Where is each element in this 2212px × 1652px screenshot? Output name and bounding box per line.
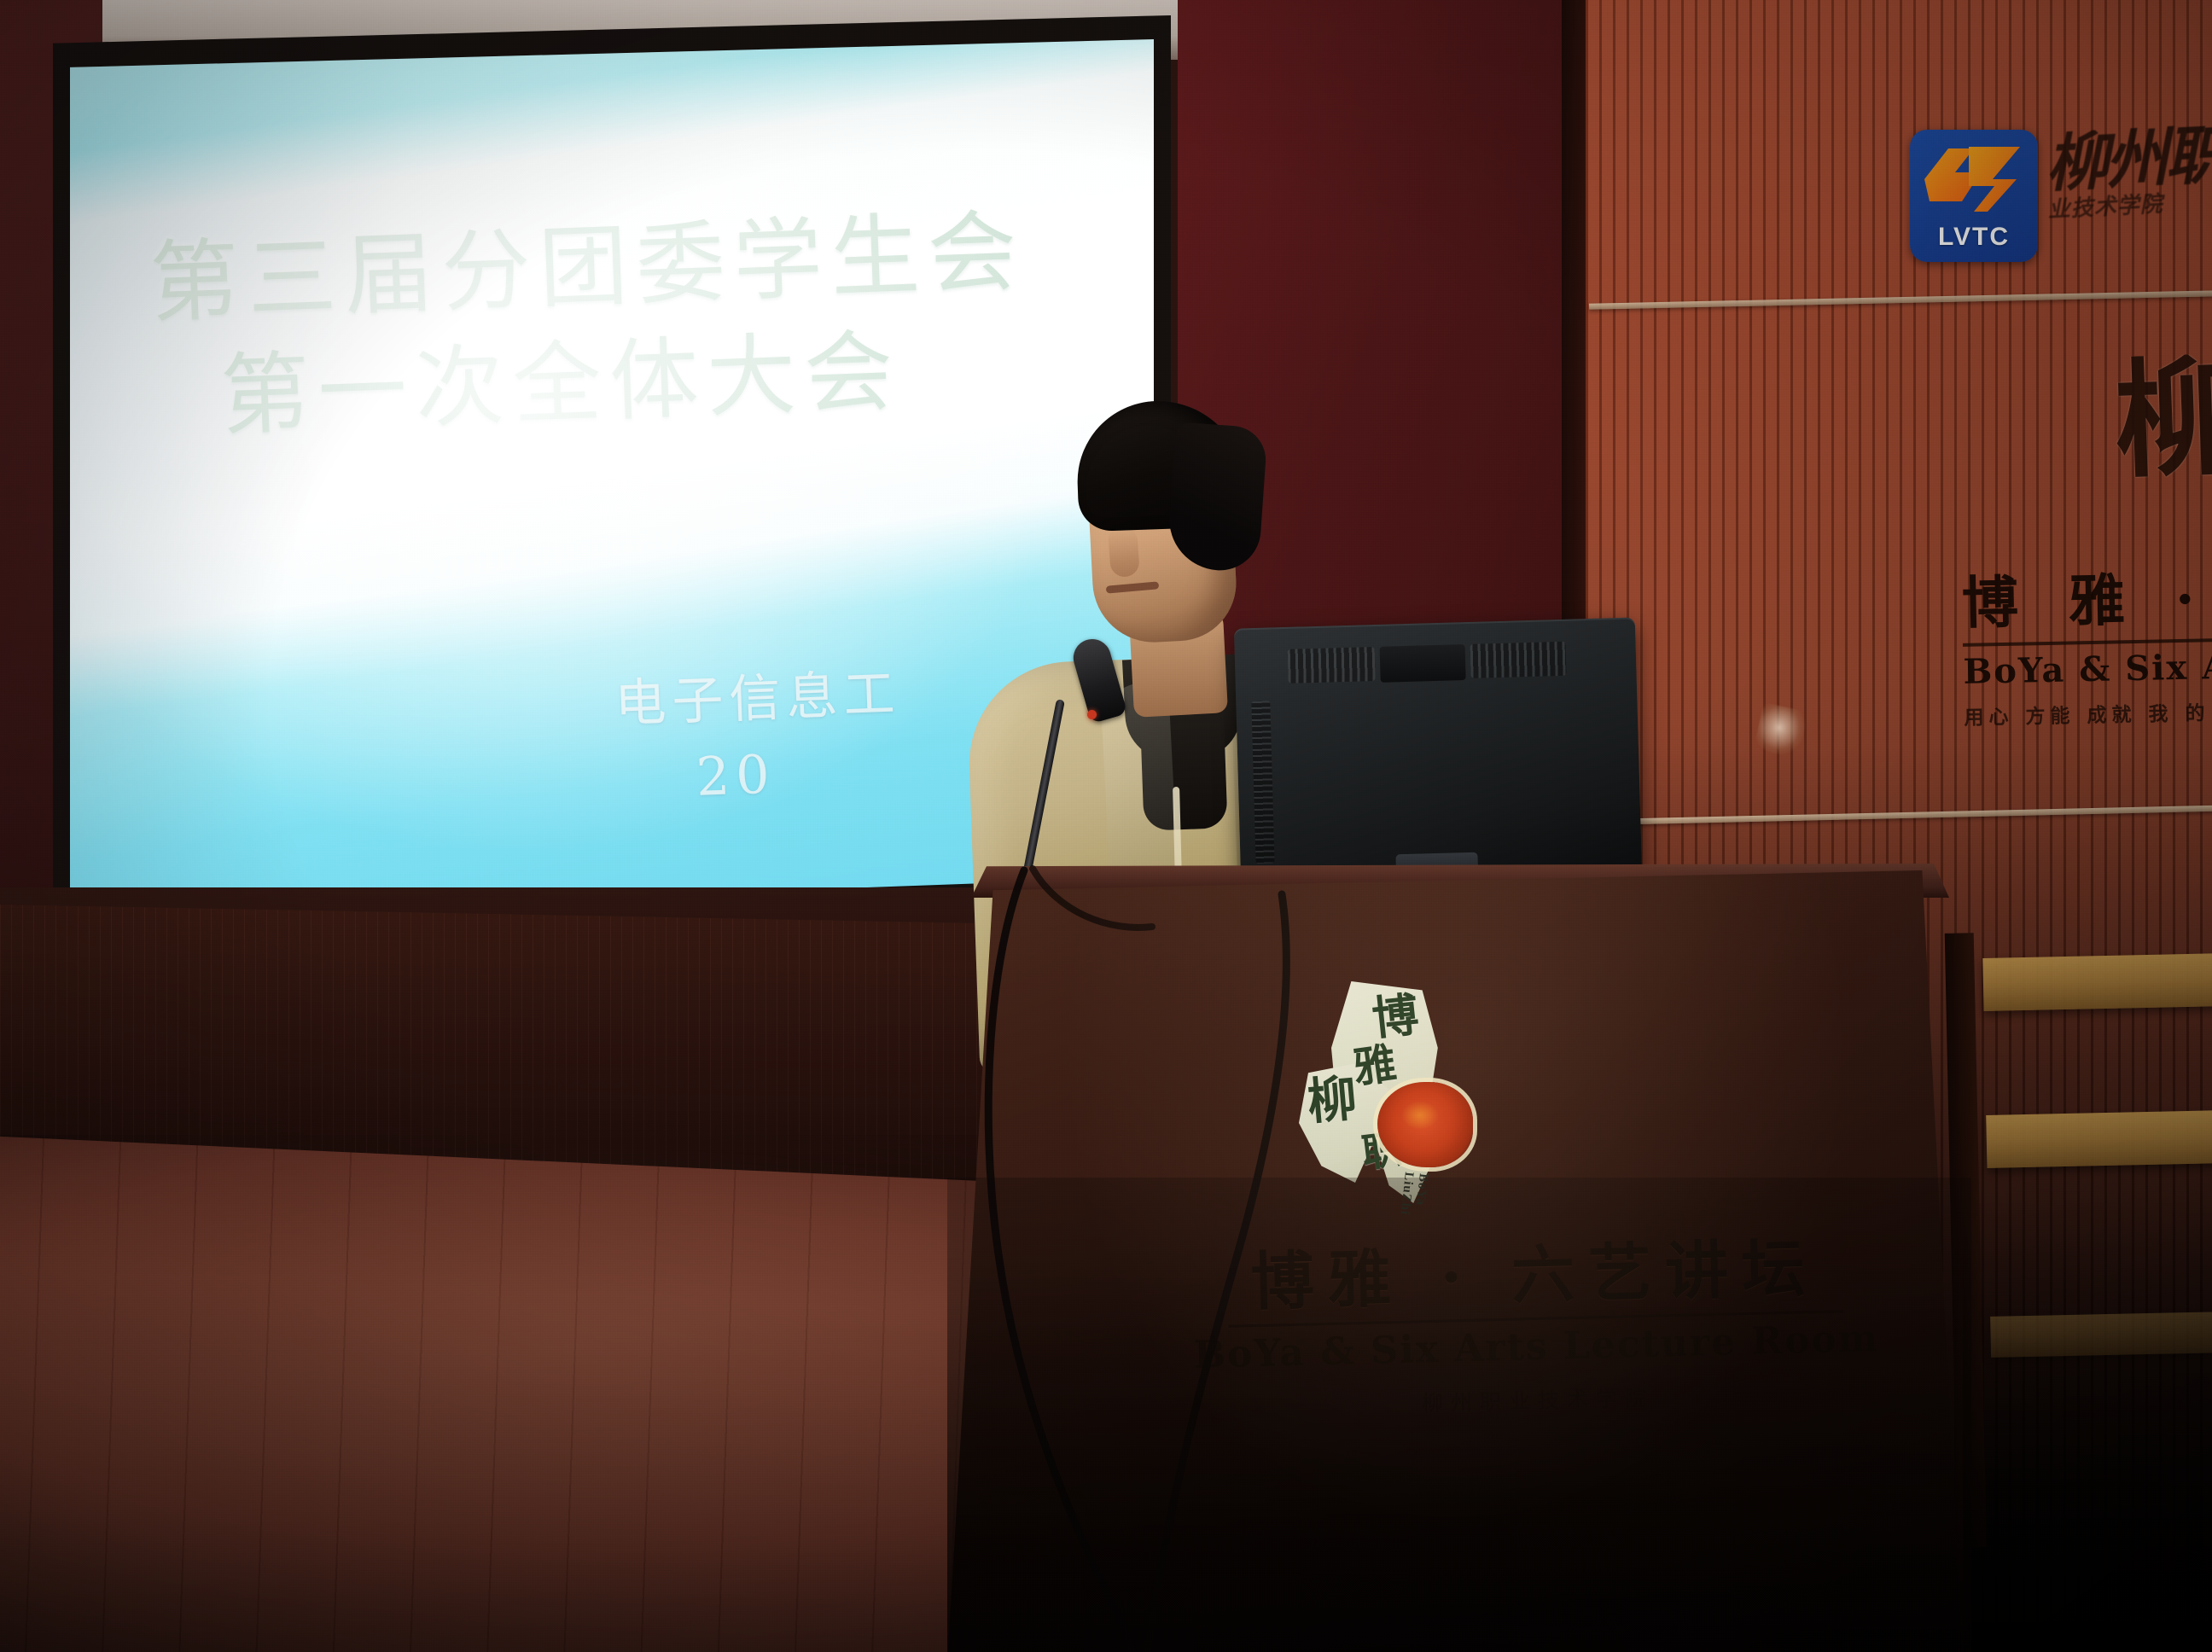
photo-scene: 第三届分团委学生会 第一次全体大会 电子信息工 20 LVTC bbox=[0, 0, 2212, 1652]
slide-title: 第三届分团委学生会 第一次全体大会 bbox=[148, 194, 1034, 457]
wall-brush-calligraphy-large: 柳 bbox=[2112, 352, 2212, 520]
bench-slat bbox=[1986, 1110, 2212, 1168]
monitor-recess bbox=[1380, 644, 1466, 683]
bench-shadow bbox=[1963, 1195, 2212, 1652]
speaker-nose bbox=[1108, 528, 1140, 578]
bench-slat bbox=[1982, 953, 2212, 1011]
monitor-vent bbox=[1470, 642, 1567, 678]
lvtc-mark-icon bbox=[1921, 140, 2027, 218]
speaker-hair-side bbox=[1166, 422, 1268, 573]
lvtc-logo: LVTC bbox=[1910, 130, 2038, 262]
lcd-monitor-rear bbox=[1234, 617, 1642, 884]
brush-top-text: 柳州职 bbox=[2044, 124, 2212, 201]
slide-title-line2: 第一次全体大会 bbox=[218, 309, 1034, 454]
slide-subtitle: 电子信息工 bbox=[614, 664, 901, 734]
wall-lecture-title: 博 雅 · BoYa & Six A 用心 方能 成就 我 的 bbox=[1961, 567, 2212, 730]
microphone-cables bbox=[896, 853, 1408, 1652]
monitor-side-vent bbox=[1251, 701, 1274, 864]
microphone-led-indicator bbox=[1087, 710, 1097, 719]
wall-title-cn: 博 雅 · bbox=[1961, 567, 2212, 634]
wall-brush-calligraphy-top: 柳州职 业技术学院 bbox=[2044, 124, 2212, 236]
wall-decoration-mark bbox=[1754, 702, 1808, 759]
wall-title-en: BoYa & Six A bbox=[1963, 649, 2212, 691]
wall-title-divider bbox=[1963, 638, 2212, 647]
lvtc-logo-label: LVTC bbox=[1910, 223, 2038, 252]
monitor-vent bbox=[1288, 647, 1376, 683]
wall-title-tiny: 用心 方能 成就 我 的 bbox=[1964, 696, 2212, 730]
